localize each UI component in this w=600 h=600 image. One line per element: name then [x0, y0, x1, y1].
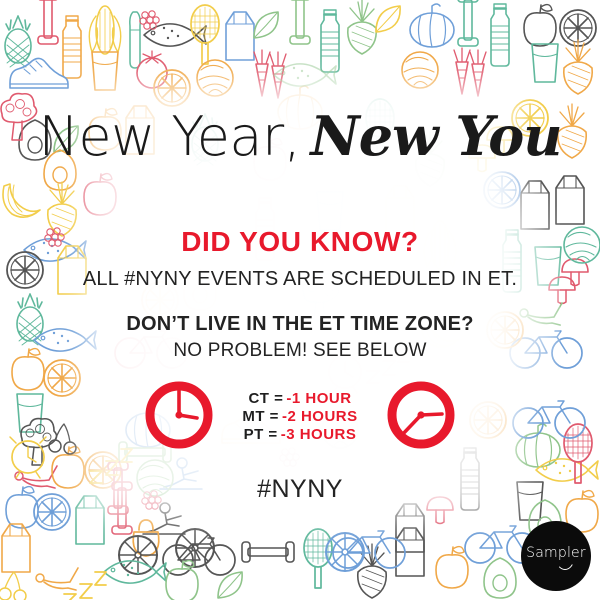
sampler-logo[interactable]: Sampler [521, 521, 591, 591]
time-zone-label: PT = [244, 426, 278, 443]
time-zone-list: CT =-1 HOUR MT =-2 HOURS PT =-3 HOURS [242, 390, 357, 445]
sampler-logo-inner: Sampler [521, 521, 591, 591]
scheduled-note: ALL #NYNY EVENTS ARE SCHEDULED IN ET. [0, 268, 600, 291]
poster-content: New Year,New You DID YOU KNOW? ALL #NYNY… [0, 0, 600, 600]
time-zone-label: MT = [242, 408, 279, 425]
clock-right-icon [384, 378, 458, 457]
headline-part-one: New Year, [38, 105, 300, 168]
headline-part-two: New You [310, 104, 561, 168]
time-zone-row: PT =-3 HOURS [242, 426, 357, 444]
time-zone-offset: -3 HOURS [281, 426, 357, 443]
smile-icon [556, 559, 574, 570]
poster-canvas: New Year,New You DID YOU KNOW? ALL #NYNY… [0, 0, 600, 600]
time-zone-question: DON’T LIVE IN THE ET TIME ZONE? [0, 313, 600, 336]
time-zone-row: CT =-1 HOUR [242, 390, 357, 408]
time-zone-block: CT =-1 HOUR MT =-2 HOURS PT =-3 HOURS [0, 374, 600, 460]
page-title: New Year,New You [0, 104, 600, 168]
time-zone-offset: -1 HOUR [286, 390, 351, 407]
did-you-know-heading: DID YOU KNOW? [0, 226, 600, 258]
no-problem-note: NO PROBLEM! SEE BELOW [0, 340, 600, 362]
time-zone-offset: -2 HOURS [282, 408, 358, 425]
clock-left-icon [142, 378, 216, 457]
time-zone-row: MT =-2 HOURS [242, 408, 357, 426]
time-zone-label: CT = [248, 390, 283, 407]
hashtag-text: #NYNY [0, 475, 600, 504]
